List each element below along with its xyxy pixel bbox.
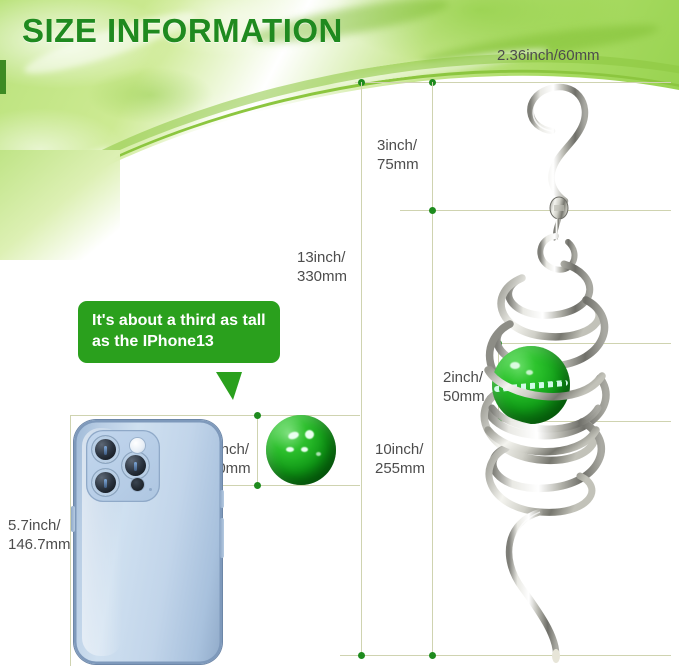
callout-text: It's about a third as tall as the IPhone… [92, 312, 266, 350]
size-information-infographic: SIZE INFORMATION 2.36inch/60mm 3inch/ 75… [0, 0, 679, 666]
ball-highlight [305, 430, 314, 439]
page-title: SIZE INFORMATION [22, 12, 343, 50]
ball-highlight [526, 370, 533, 375]
total-height-rail [361, 82, 362, 655]
ball-highlight [301, 447, 308, 452]
ball-highlight [316, 452, 321, 456]
dimension-spinner-width: 2.36inch/60mm [497, 46, 600, 65]
ball-highlight [510, 362, 520, 369]
dimension-spiral-height: 10inch/ 255mm [375, 440, 425, 478]
power-button [220, 518, 224, 558]
lidar-sensor-icon [131, 478, 144, 491]
small-ball-top-guide-line [210, 415, 360, 416]
volume-button [71, 506, 75, 532]
microphone-dot-icon [149, 488, 152, 491]
guide-dot [358, 652, 365, 659]
callout-bubble: It's about a third as tall as the IPhone… [78, 301, 280, 363]
guide-dot [254, 412, 261, 419]
camera-lens-icon [92, 436, 119, 463]
camera-flash-icon [130, 438, 145, 453]
callout-bubble-tail [216, 372, 242, 400]
small-ball-diameter-rail [257, 415, 258, 485]
left-green-gradient [0, 150, 120, 260]
dimension-total-height: 13inch/ 330mm [297, 248, 347, 286]
dimension-hook-height: 3inch/ 75mm [377, 136, 419, 174]
guide-dot [254, 482, 261, 489]
camera-module [86, 430, 160, 502]
dimension-phone-height: 5.7inch/ 146.7mm [8, 516, 71, 554]
camera-lens-icon [122, 452, 149, 479]
mute-switch [220, 490, 224, 508]
spiral-wind-spinner [430, 78, 660, 663]
small-ball-bottom-guide-line [210, 485, 360, 486]
iphone-13-illustration [74, 420, 222, 664]
left-accent-bar [0, 60, 6, 94]
camera-lens-icon [92, 469, 119, 496]
ball-highlight [286, 447, 294, 452]
